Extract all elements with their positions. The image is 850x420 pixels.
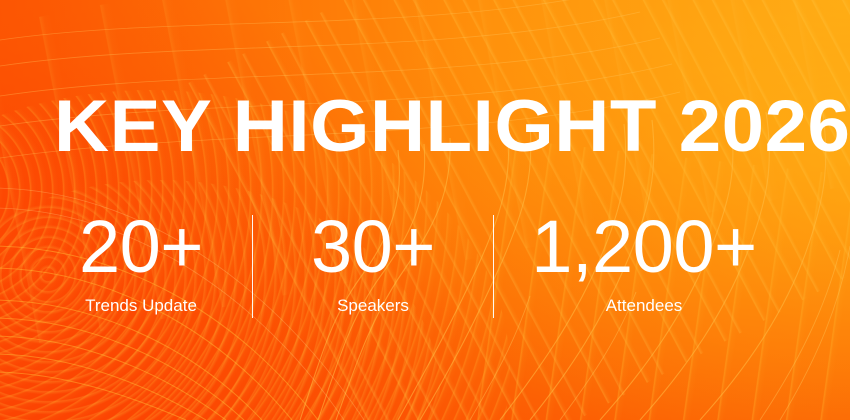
stat-label: Attendees [606,296,683,316]
key-highlight-banner: KEY HIGHLIGHT 2026 20+ Trends Update 30+… [0,0,850,420]
stat-attendees: 1,200+ Attendees [494,210,794,316]
stat-divider-2 [493,215,494,318]
stat-value: 30+ [311,210,435,284]
stat-trends-update: 20+ Trends Update [30,210,252,316]
stat-value: 20+ [79,210,203,284]
stats-row: 20+ Trends Update 30+ Speakers 1,200+ At… [30,210,820,325]
stat-value: 1,200+ [531,210,756,284]
stat-speakers: 30+ Speakers [253,210,493,316]
stat-label: Speakers [337,296,409,316]
page-title: KEY HIGHLIGHT 2026 [54,88,836,166]
banner-content: KEY HIGHLIGHT 2026 20+ Trends Update 30+… [0,0,850,420]
stat-label: Trends Update [85,296,197,316]
stat-divider-1 [252,215,253,318]
